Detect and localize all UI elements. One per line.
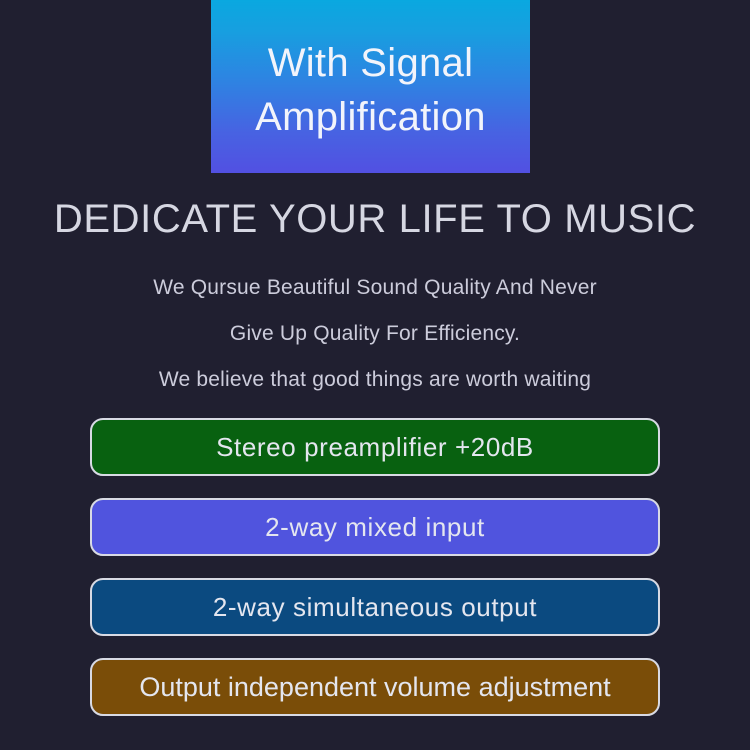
body-line-2: Give Up Quality For Efficiency. [0,311,750,357]
promo-page: With Signal Amplification DEDICATE YOUR … [0,0,750,750]
body-line-3: We believe that good things are worth wa… [0,357,750,403]
feature-pill-stereo-preamplifier[interactable]: Stereo preamplifier +20dB [90,418,660,476]
feature-pill-simultaneous-output[interactable]: 2-way simultaneous output [90,578,660,636]
page-title: DEDICATE YOUR LIFE TO MUSIC [0,197,750,242]
hero-title-line-1: With Signal [268,36,474,90]
feature-pill-mixed-input[interactable]: 2-way mixed input [90,498,660,556]
body-line-1: We Qursue Beautiful Sound Quality And Ne… [0,265,750,311]
feature-pill-volume-adjustment[interactable]: Output independent volume adjustment [90,658,660,716]
hero-title-line-2: Amplification [255,90,486,144]
body-copy: We Qursue Beautiful Sound Quality And Ne… [0,265,750,403]
hero-banner: With Signal Amplification [211,0,530,173]
feature-list: Stereo preamplifier +20dB 2-way mixed in… [0,418,750,716]
